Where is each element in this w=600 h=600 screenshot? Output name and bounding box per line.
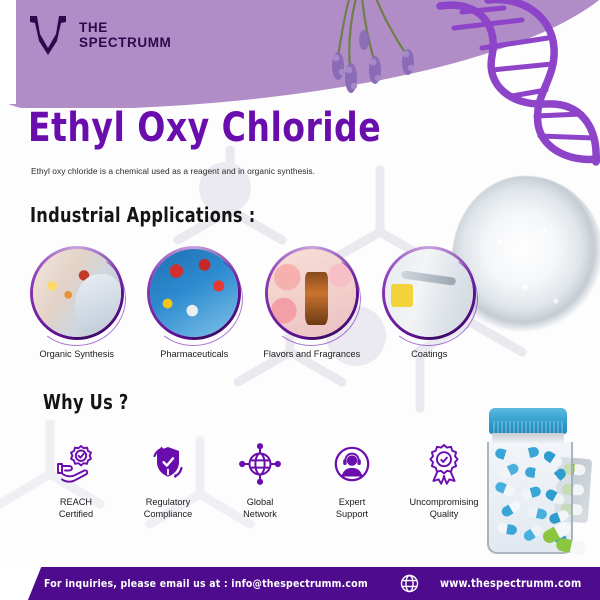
feature-item-expert-support[interactable]: Expert Support: [306, 442, 398, 520]
brand-logo[interactable]: THE SPECTRUMM: [26, 14, 171, 56]
application-image-ring: [382, 246, 476, 340]
application-item-coatings[interactable]: Coatings: [371, 246, 489, 360]
globe-icon: [400, 574, 419, 598]
roses-and-perfume-bottle-photo: [268, 249, 356, 337]
infographic-poster: THE SPECTRUMM: [0, 0, 600, 600]
feature-label: Uncompromising Quality: [410, 496, 479, 520]
brand-name-line2: SPECTRUMM: [79, 35, 171, 50]
applications-heading: Industrial Applications :: [30, 203, 255, 227]
application-item-organic-synthesis[interactable]: Organic Synthesis: [18, 246, 136, 360]
feature-label-line1: Global: [247, 497, 274, 507]
application-image-ring: [265, 246, 359, 340]
feature-item-uncompromising-quality[interactable]: Uncompromising Quality: [398, 442, 490, 520]
feature-label: Global Network: [243, 496, 277, 520]
feature-label-line2: Network: [243, 509, 277, 519]
why-us-heading: Why Us ?: [43, 390, 129, 414]
page-subtitle: Ethyl oxy chloride is a chemical used as…: [31, 166, 315, 176]
application-label: Organic Synthesis: [39, 349, 114, 360]
feature-item-regulatory-compliance[interactable]: Regulatory Compliance: [122, 442, 214, 520]
hand-holding-certificate-icon: [54, 442, 98, 486]
pill-jar-with-capsules: [480, 408, 576, 558]
feature-label: Regulatory Compliance: [144, 496, 193, 520]
scientist-holding-vials-photo: [33, 249, 121, 337]
feature-label: REACH Certified: [59, 496, 93, 520]
footer-website-link[interactable]: www.thespectrumm.com: [440, 576, 581, 590]
feature-label-line2: Quality: [430, 509, 459, 519]
feature-item-reach-certified[interactable]: REACH Certified: [30, 442, 122, 520]
blue-molecular-models-photo: [150, 249, 238, 337]
application-image-ring: [30, 246, 124, 340]
feature-label-line1: Uncompromising: [410, 497, 479, 507]
feature-label: Expert Support: [336, 496, 368, 520]
footer-inquiry-text: For inquiries, please email us at : info…: [44, 577, 368, 590]
spray-coating-equipment-photo: [385, 249, 473, 337]
footer-bar: For inquiries, please email us at : info…: [0, 567, 600, 600]
page-title: Ethyl Oxy Chloride: [28, 105, 381, 151]
globe-network-icon: [238, 442, 282, 486]
applications-list: Organic Synthesis Pharmaceuticals Flavor…: [18, 246, 488, 360]
brand-name: THE SPECTRUMM: [79, 20, 171, 50]
w-logo-icon: [26, 14, 70, 56]
jar-cap: [489, 408, 567, 434]
application-label: Pharmaceuticals: [160, 349, 228, 360]
application-image-ring: [147, 246, 241, 340]
feature-label-line1: Expert: [339, 497, 366, 507]
feature-label-line2: Certified: [59, 509, 93, 519]
brand-name-line1: THE: [79, 20, 171, 35]
feature-label-line1: REACH: [60, 497, 92, 507]
quality-rosette-icon: [422, 442, 466, 486]
application-label: Flavors and Fragrances: [263, 349, 360, 360]
headset-support-icon: [330, 442, 374, 486]
feature-label-line1: Regulatory: [146, 497, 190, 507]
application-item-flavors-and-fragrances[interactable]: Flavors and Fragrances: [253, 246, 371, 360]
feature-label-line2: Compliance: [144, 509, 193, 519]
application-label: Coatings: [411, 349, 447, 360]
shield-check-icon: [146, 442, 190, 486]
dna-helix-icon: [426, 0, 600, 179]
application-item-pharmaceuticals[interactable]: Pharmaceuticals: [136, 246, 254, 360]
feature-item-global-network[interactable]: Global Network: [214, 442, 306, 520]
why-us-list: REACH Certified Regulato: [30, 442, 490, 520]
feature-label-line2: Support: [336, 509, 368, 519]
